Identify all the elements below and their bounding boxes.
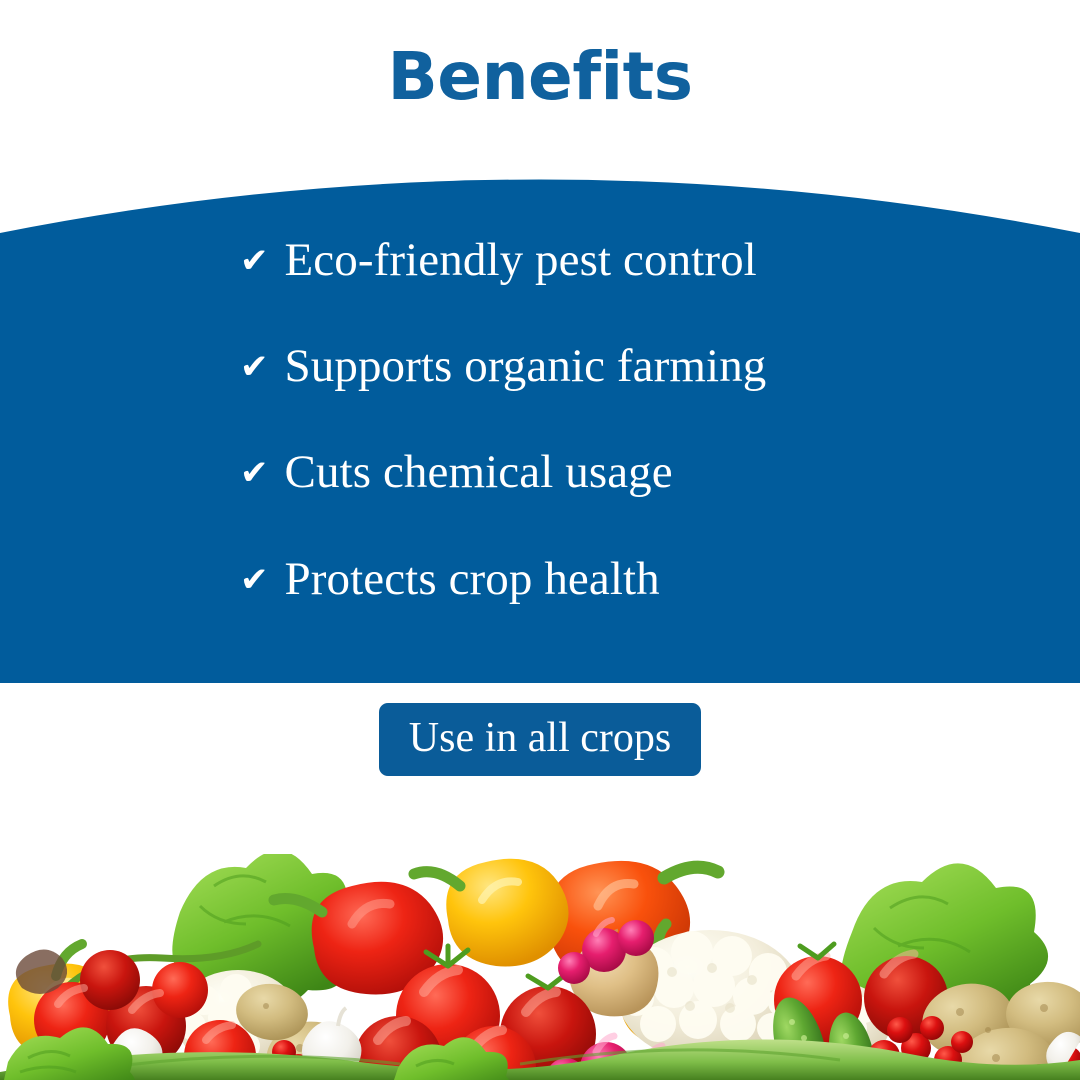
list-item: ✔ Supports organic farming (240, 342, 766, 391)
check-icon: ✔ (240, 563, 269, 597)
list-item: ✔ Protects crop health (240, 555, 660, 604)
list-item: ✔ Eco-friendly pest control (240, 236, 757, 285)
vegetables-photo (0, 820, 1080, 1080)
benefit-label-2: Supports organic farming (285, 342, 767, 391)
page-title: Benefits (388, 42, 693, 111)
list-item: ✔ Cuts chemical usage (240, 448, 673, 497)
benefit-label-1: Eco-friendly pest control (285, 236, 757, 285)
benefit-label-4: Protects crop health (285, 555, 660, 604)
check-icon: ✔ (240, 456, 269, 490)
title-container: Benefits (0, 42, 1080, 111)
check-icon: ✔ (240, 350, 269, 384)
check-icon: ✔ (240, 244, 269, 278)
benefit-label-3: Cuts chemical usage (285, 448, 673, 497)
benefits-list: ✔ Eco-friendly pest control ✔ Supports o… (0, 236, 1080, 666)
use-in-all-crops-badge: Use in all crops (379, 703, 701, 776)
poster-canvas: Benefits ✔ Eco-friendly pest control ✔ S… (0, 0, 1080, 1080)
badge-container: Use in all crops (0, 703, 1080, 776)
